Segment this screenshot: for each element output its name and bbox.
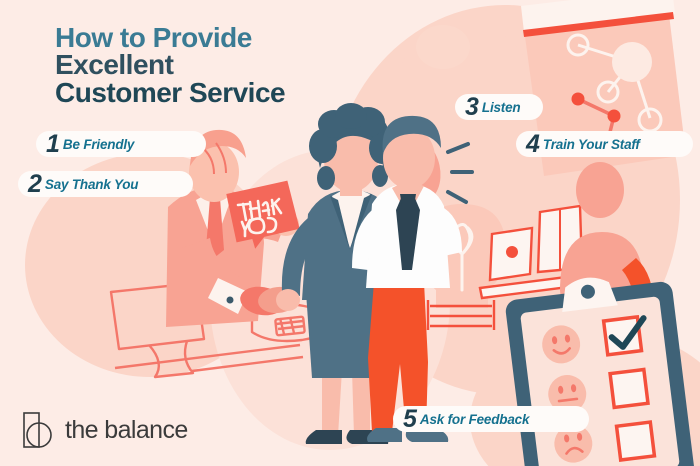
infographic-canvas: How to Provide Excellent Customer Servic… bbox=[0, 0, 700, 466]
step-item-4: 4 Train Your Staff bbox=[516, 131, 654, 157]
step-label: Listen bbox=[478, 100, 535, 115]
step-item-5: 5 Ask for Feedback bbox=[393, 406, 543, 432]
brand-logo[interactable]: the balance bbox=[22, 411, 188, 449]
step-label: Say Thank You bbox=[41, 177, 152, 192]
step-number: 3 bbox=[455, 95, 478, 120]
page-title: How to Provide Excellent Customer Servic… bbox=[55, 24, 285, 106]
step-label: Be Friendly bbox=[59, 137, 148, 152]
step-label: Ask for Feedback bbox=[416, 412, 543, 427]
step-item-1: 1 Be Friendly bbox=[36, 131, 148, 157]
step-number: 1 bbox=[36, 132, 59, 157]
step-number: 2 bbox=[18, 172, 41, 197]
step-number: 5 bbox=[393, 407, 416, 432]
step-label: Train Your Staff bbox=[539, 137, 654, 152]
logo-text: the balance bbox=[65, 416, 188, 445]
step-item-2: 2 Say Thank You bbox=[18, 171, 152, 197]
title-line-3: Customer Service bbox=[55, 79, 285, 106]
title-line-2: Excellent bbox=[55, 51, 285, 78]
balance-mark-icon bbox=[22, 411, 56, 449]
step-number: 4 bbox=[516, 132, 539, 157]
title-line-1: How to Provide bbox=[55, 24, 285, 51]
step-item-3: 3 Listen bbox=[455, 94, 534, 120]
